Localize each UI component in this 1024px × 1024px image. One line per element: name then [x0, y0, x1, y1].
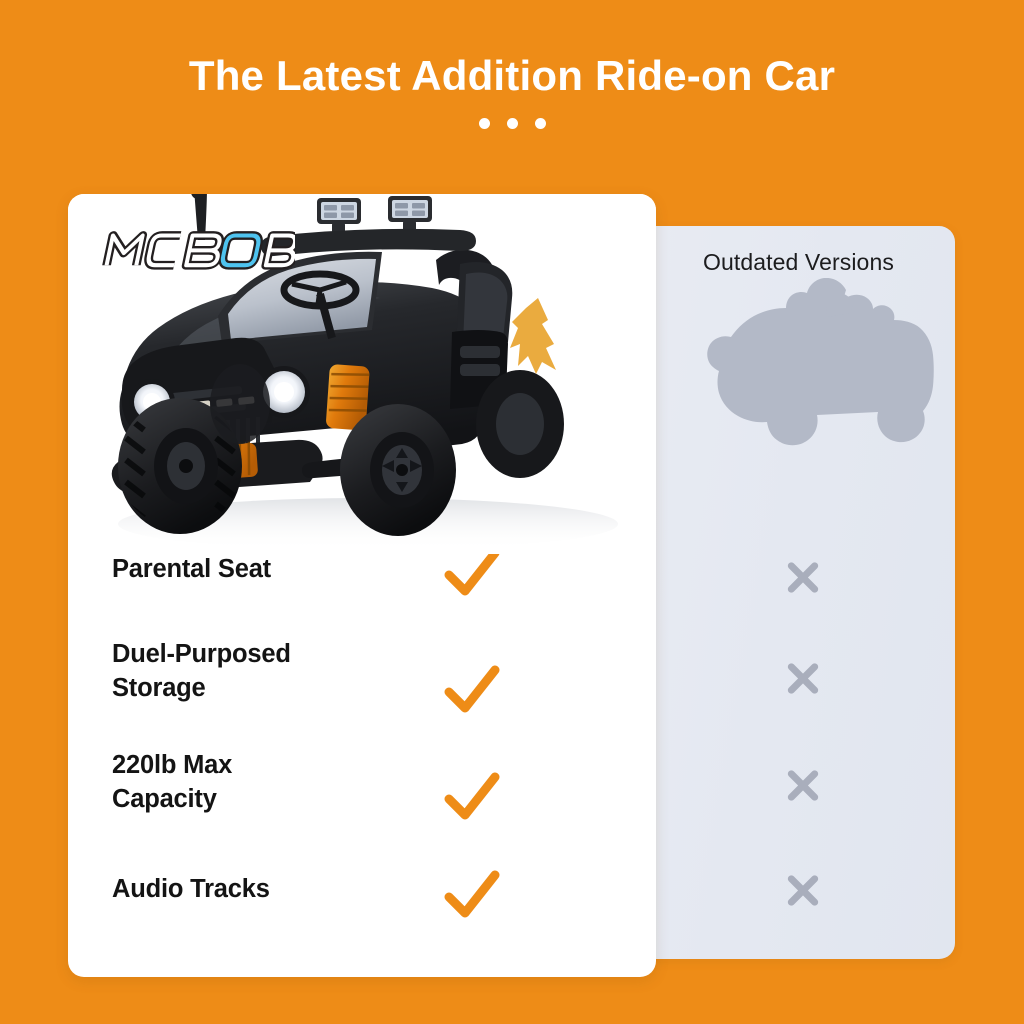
page-title: The Latest Addition Ride-on Car	[0, 52, 1024, 100]
feature-label: Audio Tracks	[112, 873, 412, 907]
feature-label: 220lb Max Capacity	[112, 749, 412, 816]
feature-label-line: Capacity	[112, 785, 217, 813]
feature-label-line: Duel-Purposed	[112, 640, 291, 668]
feature-label-line: 220lb Max	[112, 751, 232, 779]
feature-row: Duel-Purposed Storage	[68, 640, 656, 741]
divider-dot	[479, 118, 490, 129]
product-feature-card: Parental Seat Duel-Purposed Storage 220l…	[68, 194, 656, 977]
check-icon	[443, 867, 501, 925]
x-icon	[780, 554, 826, 600]
x-icon	[780, 762, 826, 808]
feature-row: Audio Tracks	[68, 849, 656, 950]
feature-row: 220lb Max Capacity	[68, 741, 656, 849]
title-divider-dots	[0, 118, 1024, 129]
wheel-rear	[340, 404, 456, 536]
feature-list: Parental Seat Duel-Purposed Storage 220l…	[68, 539, 656, 950]
x-icon	[780, 867, 826, 913]
feature-label: Duel-Purposed Storage	[112, 638, 412, 705]
divider-dot	[535, 118, 546, 129]
x-icon	[780, 655, 826, 701]
check-icon	[443, 662, 501, 720]
promo-page: The Latest Addition Ride-on Car Outdated…	[0, 0, 1024, 1024]
feature-label: Parental Seat	[112, 553, 412, 587]
feature-label-line: Storage	[112, 674, 206, 702]
product-photo	[68, 154, 656, 554]
divider-dot	[507, 118, 518, 129]
feature-row: Parental Seat	[68, 539, 656, 640]
check-icon	[443, 769, 501, 827]
mcbob-logo	[85, 222, 295, 276]
